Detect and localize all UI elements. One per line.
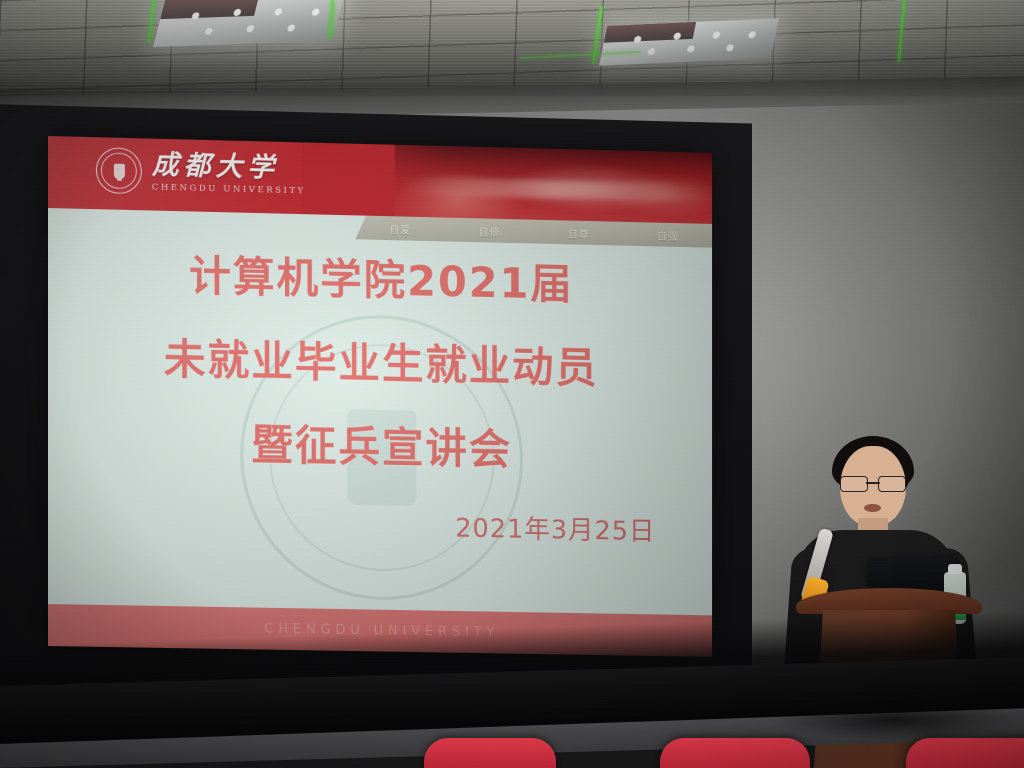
audience-chair-3 (906, 738, 1024, 768)
header-gradient-fade (302, 142, 448, 217)
university-name-en: CHENGDU UNIVERSITY (152, 183, 306, 195)
slide-title-line-2: 未就业毕业生就业动员 (84, 337, 677, 391)
motto-item-1: 自爱 (389, 221, 411, 236)
presenter-mouth (864, 504, 881, 512)
slide-body: 计算机学院2021届 未就业毕业生就业动员 暨征兵宣讲会 2021年3月25日 (48, 232, 712, 615)
motto-item-2: 自修 (479, 223, 501, 238)
water-bottle-cap (948, 564, 962, 574)
slide-date: 2021年3月25日 (84, 501, 677, 549)
university-seal-icon (96, 147, 142, 194)
projection-screen: 成都大学 CHENGDU UNIVERSITY 自爱 自修 自尊 自强 计算机学… (48, 136, 712, 657)
audience-chair-2 (660, 738, 810, 768)
slide-title-line-1: 计算机学院2021届 (84, 253, 677, 308)
glasses-icon (840, 476, 906, 491)
lecture-hall-photo: 成都大学 CHENGDU UNIVERSITY 自爱 自修 自尊 自强 计算机学… (0, 0, 1024, 768)
seal-inner-mark (113, 163, 124, 178)
presentation-slide: 成都大学 CHENGDU UNIVERSITY 自爱 自修 自尊 自强 计算机学… (48, 136, 712, 657)
university-logo: 成都大学 CHENGDU UNIVERSITY (96, 147, 306, 198)
glasses-lens-left (840, 476, 868, 492)
slide-title-line-3: 暨征兵宣讲会 (84, 421, 677, 475)
audience-chair-1 (424, 738, 556, 768)
logo-text-block: 成都大学 CHENGDU UNIVERSITY (152, 151, 306, 195)
motto-item-3: 自尊 (568, 225, 590, 240)
glasses-lens-right (878, 476, 906, 492)
university-name-cn: 成都大学 (152, 151, 306, 182)
motto-item-4: 自强 (657, 227, 679, 242)
